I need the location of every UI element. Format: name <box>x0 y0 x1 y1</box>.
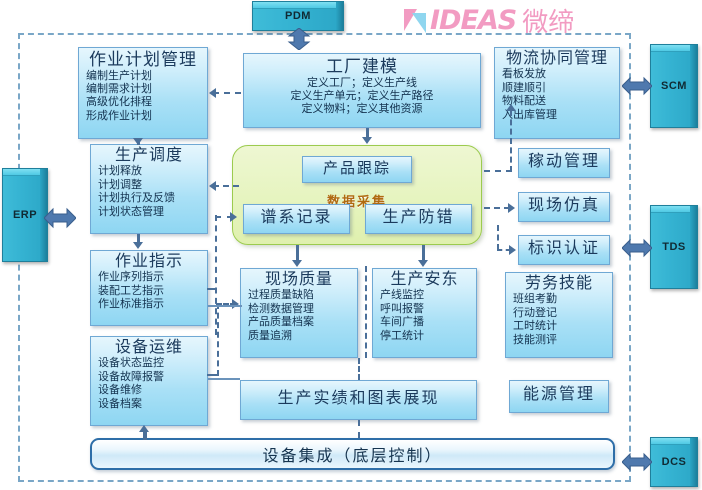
module-factory-modeling[interactable]: 工厂建模 定义工厂；定义生产线 定义生产单元；定义生产路径 定义物料；定义其他资… <box>243 53 481 128</box>
external-system-pdm[interactable]: PDM <box>252 1 344 31</box>
arrowhead-right <box>508 203 515 213</box>
mes-architecture-diagram: IDEAS 微缔 PDM ERP SCM TDS <box>0 0 702 490</box>
module-logistics-collaboration-title: 物流协同管理 <box>500 50 614 68</box>
connector-tds <box>622 238 652 258</box>
list-item: 计划状态管理 <box>98 206 202 219</box>
module-factory-modeling-title: 工厂建模 <box>249 57 475 77</box>
module-production-report[interactable]: 生产实绩和图表展现 <box>240 380 477 420</box>
list-item: 技能测评 <box>513 334 607 347</box>
list-item: 设备维修 <box>98 384 202 397</box>
list-item: 车间广播 <box>380 316 471 329</box>
external-system-dcs[interactable]: DCS <box>650 437 698 487</box>
module-equipment-maintenance-title: 设备运维 <box>96 339 202 357</box>
list-item: 形成作业计划 <box>86 110 202 123</box>
arrowhead-down <box>362 137 372 144</box>
module-operation-rate[interactable]: 稼动管理 <box>518 148 610 178</box>
module-genealogy-record-label: 谱系记录 <box>260 209 332 227</box>
module-logistics-collaboration[interactable]: 物流协同管理 看板发放 顺建顺引 物料配送 入出库管理 <box>494 47 620 139</box>
arrowhead-up <box>139 425 149 432</box>
module-equipment-maintenance[interactable]: 设备运维 设备状态监控 设备故障报警 设备维修 设备档案 <box>90 336 208 426</box>
module-logistics-collaboration-items: 看板发放 顺建顺引 物料配送 入出库管理 <box>500 68 614 122</box>
module-production-error-proofing[interactable]: 生产防错 <box>365 204 472 234</box>
arrow-acquisition-to-quality <box>296 245 299 261</box>
list-item: 看板发放 <box>502 68 614 81</box>
arrowhead-up <box>506 104 516 111</box>
list-item: 设备状态监控 <box>98 357 202 370</box>
module-identity-certification[interactable]: 标识认证 <box>518 235 610 265</box>
list-item: 高级优化排程 <box>86 96 202 109</box>
v-checkmark-icon <box>404 7 430 35</box>
arrow-acquisition-to-logistics-h <box>484 170 512 172</box>
list-item: 定义物料；定义其他资源 <box>249 103 475 116</box>
module-energy-management[interactable]: 能源管理 <box>509 380 609 413</box>
list-item: 班组考勤 <box>513 293 607 306</box>
module-onsite-quality-items: 过程质量缺陷 检测数据管理 产品质量档案 质量追溯 <box>246 289 352 343</box>
logo-latin-text: IDEAS <box>430 5 516 36</box>
arrow-acquisition-to-scheduling <box>213 185 239 187</box>
module-product-tracking-label: 产品跟踪 <box>323 160 391 177</box>
module-onsite-quality-title: 现场质量 <box>246 271 352 289</box>
connector-dcs <box>622 452 652 472</box>
list-item: 停工统计 <box>380 330 471 343</box>
arrow-instruction-branch <box>207 288 217 290</box>
arrowhead-down <box>133 138 143 145</box>
external-system-tds-label: TDS <box>651 241 697 253</box>
module-product-tracking[interactable]: 产品跟踪 <box>302 156 412 183</box>
list-item: 装配工艺指示 <box>98 285 202 298</box>
list-item: 编制需求计划 <box>86 83 202 96</box>
external-system-scm[interactable]: SCM <box>650 44 698 128</box>
module-onsite-simulation[interactable]: 现场仿真 <box>518 192 610 222</box>
list-item: 工时统计 <box>513 320 607 333</box>
module-onsite-simulation-label: 现场仿真 <box>528 197 600 215</box>
module-plan-management-title: 作业计划管理 <box>84 50 202 70</box>
module-plan-management-items: 编制生产计划 编制需求计划 高级优化排程 形成作业计划 <box>84 70 202 124</box>
module-production-andon[interactable]: 生产安东 产线监控 呼叫报警 车间广播 停工统计 <box>372 268 477 358</box>
arrow-integration-to-equipment <box>143 432 147 440</box>
arrow-acquisition-to-andon <box>422 245 425 261</box>
module-production-report-label: 生产实绩和图表展现 <box>277 390 439 408</box>
arrowhead-down <box>292 260 302 267</box>
list-item: 作业序列指示 <box>98 271 202 284</box>
arrowhead-down <box>133 242 143 249</box>
arrowhead-right <box>232 299 239 309</box>
arrow-equipment-vert <box>217 303 219 376</box>
module-labor-skills-items: 班组考勤 行动登记 工时统计 技能测评 <box>511 293 607 347</box>
connector-pdm <box>287 28 311 50</box>
list-item: 编制生产计划 <box>86 70 202 83</box>
arrowhead-left <box>209 88 216 98</box>
list-item: 作业标准指示 <box>98 298 202 311</box>
arrowhead-down <box>418 260 428 267</box>
external-system-dcs-label: DCS <box>651 456 697 468</box>
external-system-erp-label: ERP <box>3 209 47 221</box>
module-production-scheduling[interactable]: 生产调度 计划释放 计划调整 计划执行及反馈 计划状态管理 <box>90 144 208 234</box>
module-production-andon-title: 生产安东 <box>378 271 471 289</box>
module-onsite-quality[interactable]: 现场质量 过程质量缺陷 检测数据管理 产品质量档案 质量追溯 <box>240 268 358 358</box>
list-item: 质量追溯 <box>248 330 352 343</box>
external-system-pdm-label: PDM <box>253 10 343 22</box>
arrowhead-right <box>509 245 516 255</box>
module-operation-rate-label: 稼动管理 <box>528 153 600 171</box>
line-instruction-right <box>208 305 242 307</box>
arrow-modeling-to-plan <box>213 92 241 94</box>
module-genealogy-record[interactable]: 谱系记录 <box>243 204 350 234</box>
arrow-quality-to-report <box>358 358 360 380</box>
list-item: 检测数据管理 <box>248 303 352 316</box>
list-item: 呼叫报警 <box>380 303 471 316</box>
external-system-scm-label: SCM <box>651 80 697 92</box>
list-item: 定义生产单元；定义生产路径 <box>249 90 475 103</box>
list-item: 产品质量档案 <box>248 316 352 329</box>
list-item: 设备故障报警 <box>98 371 202 384</box>
external-system-tds[interactable]: TDS <box>650 205 698 289</box>
module-labor-skills[interactable]: 劳务技能 班组考勤 行动登记 工时统计 技能测评 <box>505 272 613 358</box>
list-item: 顺建顺引 <box>502 82 614 95</box>
module-production-scheduling-title: 生产调度 <box>96 147 202 165</box>
external-system-erp[interactable]: ERP <box>2 168 48 262</box>
arrow-acquisition-to-logistics-v <box>510 110 512 172</box>
module-energy-management-label: 能源管理 <box>523 386 595 404</box>
connector-erp <box>44 207 76 229</box>
integration-bar-label: 设备集成（底层控制） <box>262 442 442 466</box>
module-production-andon-items: 产线监控 呼叫报警 车间广播 停工统计 <box>378 289 471 343</box>
module-production-scheduling-items: 计划释放 计划调整 计划执行及反馈 计划状态管理 <box>96 165 202 219</box>
arrowhead-right <box>230 212 237 222</box>
list-item: 计划执行及反馈 <box>98 192 202 205</box>
list-item: 设备档案 <box>98 398 202 411</box>
arrow-acquisition-to-simulation <box>484 207 510 209</box>
list-item: 入出库管理 <box>502 109 614 122</box>
module-labor-skills-title: 劳务技能 <box>511 275 607 293</box>
integration-bar[interactable]: 设备集成（底层控制） <box>90 438 615 470</box>
list-item: 产线监控 <box>380 289 471 302</box>
divider-quality-andon <box>365 266 367 358</box>
module-plan-management[interactable]: 作业计划管理 编制生产计划 编制需求计划 高级优化排程 形成作业计划 <box>78 47 208 139</box>
module-factory-modeling-items: 定义工厂；定义生产线 定义生产单元；定义生产路径 定义物料；定义其他资源 <box>249 77 475 117</box>
line-equipment-right <box>208 378 240 380</box>
list-item: 计划释放 <box>98 165 202 178</box>
arrowhead-left <box>209 181 216 191</box>
list-item: 计划调整 <box>98 179 202 192</box>
list-item: 定义工厂；定义生产线 <box>249 77 475 90</box>
list-item: 过程质量缺陷 <box>248 289 352 302</box>
list-item: 物料配送 <box>502 95 614 108</box>
module-equipment-maintenance-items: 设备状态监控 设备故障报警 设备维修 设备档案 <box>96 357 202 411</box>
connector-scm <box>622 76 652 96</box>
module-production-error-proofing-label: 生产防错 <box>382 209 454 227</box>
module-work-instruction-title: 作业指示 <box>96 253 202 271</box>
list-item: 行动登记 <box>513 307 607 320</box>
module-work-instruction[interactable]: 作业指示 作业序列指示 装配工艺指示 作业标准指示 <box>90 250 208 326</box>
module-identity-certification-label: 标识认证 <box>528 240 600 258</box>
arrow-to-identity-v <box>497 225 499 250</box>
arrow-report-to-integration <box>358 420 360 438</box>
module-work-instruction-items: 作业序列指示 装配工艺指示 作业标准指示 <box>96 271 202 311</box>
